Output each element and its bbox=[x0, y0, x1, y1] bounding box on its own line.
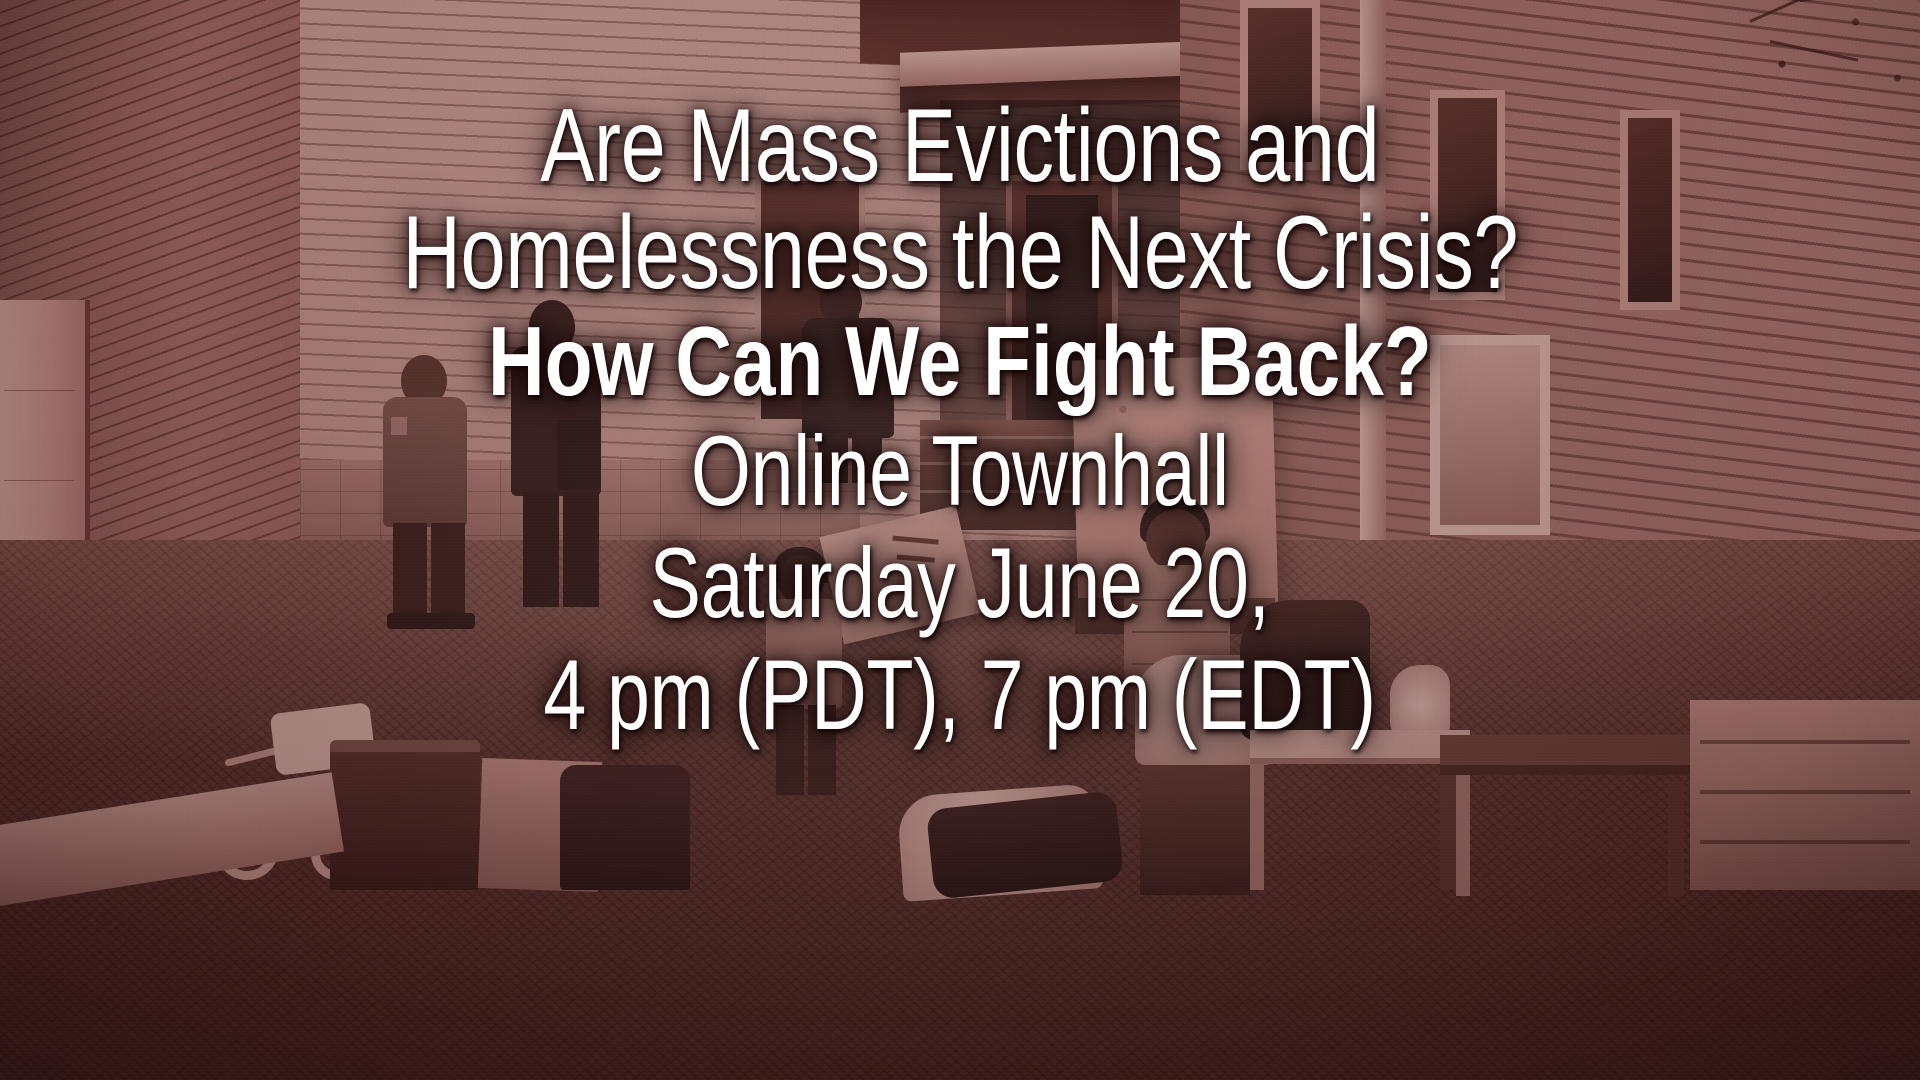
headline-line-2: Homelessness the Next Crisis? bbox=[402, 203, 1518, 304]
event-date: Saturday June 20, bbox=[650, 535, 1270, 631]
event-format: Online Townhall bbox=[691, 423, 1229, 519]
subheadline: How Can We Fight Back? bbox=[488, 314, 1432, 409]
poster-text-block: Are Mass Evictions and Homelessness the … bbox=[0, 0, 1920, 1080]
headline-line-1: Are Mass Evictions and bbox=[540, 96, 1379, 197]
eviction-townhall-poster: Are Mass Evictions and Homelessness the … bbox=[0, 0, 1920, 1080]
event-time: 4 pm (PDT), 7 pm (EDT) bbox=[544, 647, 1376, 743]
